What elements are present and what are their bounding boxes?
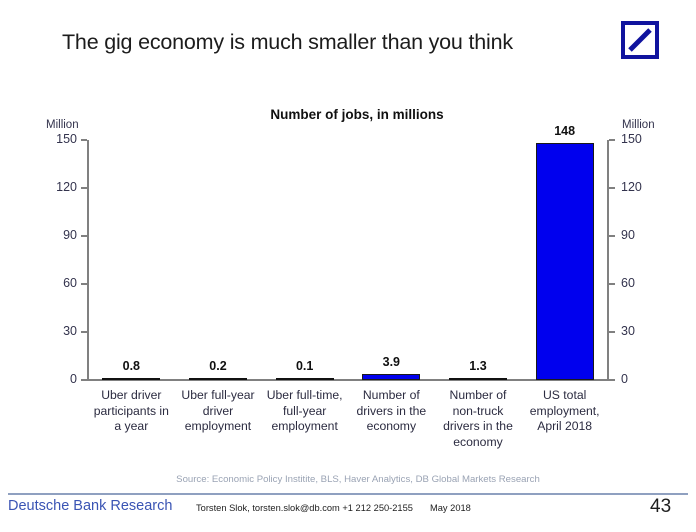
category-label-line: participants in xyxy=(82,404,181,420)
bar xyxy=(536,143,594,380)
bar xyxy=(102,378,160,381)
y-tick-label-right-30: 30 xyxy=(621,324,635,338)
bar xyxy=(362,374,420,380)
y-tick-right-30 xyxy=(609,331,615,333)
category-label-line: employment, xyxy=(515,404,614,420)
footer-date: May 2018 xyxy=(430,503,471,513)
y-tick-label-left-60: 60 xyxy=(63,276,77,290)
category-label: Number ofdrivers in theeconomy xyxy=(342,388,441,435)
y-tick-label-right-120: 120 xyxy=(621,180,642,194)
category-label-line: full-year xyxy=(255,404,354,420)
footer-contact: Torsten Slok, torsten.slok@db.com +1 212… xyxy=(196,503,413,513)
y-tick-label-right-60: 60 xyxy=(621,276,635,290)
y-tick-left-150 xyxy=(81,139,87,141)
bar-value-label: 0.1 xyxy=(261,359,348,373)
plot-area: 00303060609090120120150150 0.80.20.13.91… xyxy=(88,140,608,380)
category-label: Uber driverparticipants ina year xyxy=(82,388,181,435)
y-tick-label-right-0: 0 xyxy=(621,372,628,386)
y-axis-unit-right: Million xyxy=(622,119,655,131)
category-label-line: Uber driver xyxy=(82,388,181,404)
source-note: Source: Economic Policy Institite, BLS, … xyxy=(0,474,696,485)
y-tick-left-60 xyxy=(81,283,87,285)
chart-title: Number of jobs, in millions xyxy=(0,107,696,122)
bar xyxy=(449,378,507,381)
category-label-line: driver xyxy=(169,404,268,420)
bar-value-label: 1.3 xyxy=(435,359,522,373)
y-tick-right-120 xyxy=(609,187,615,189)
y-tick-label-left-30: 30 xyxy=(63,324,77,338)
category-label-line: US total xyxy=(515,388,614,404)
y-axis-left-line xyxy=(87,140,89,381)
y-tick-right-150 xyxy=(609,139,615,141)
y-tick-label-left-120: 120 xyxy=(56,180,77,194)
y-tick-label-left-0: 0 xyxy=(70,372,77,386)
y-axis-unit-left: Million xyxy=(46,119,79,131)
bar-value-label: 3.9 xyxy=(348,355,435,369)
y-axis-right-line xyxy=(607,140,609,381)
bar-value-label: 148 xyxy=(521,124,608,138)
footer-brand: Deutsche Bank Research xyxy=(8,498,172,514)
category-label-line: non-truck xyxy=(429,404,528,420)
y-tick-left-90 xyxy=(81,235,87,237)
category-label: US totalemployment,April 2018 xyxy=(515,388,614,435)
category-label: Number ofnon-truckdrivers in theeconomy xyxy=(429,388,528,450)
x-axis-baseline xyxy=(87,379,609,381)
y-tick-label-right-90: 90 xyxy=(621,228,635,242)
category-label: Uber full-time,full-yearemployment xyxy=(255,388,354,435)
category-label-line: Number of xyxy=(342,388,441,404)
page-title: The gig economy is much smaller than you… xyxy=(62,30,513,55)
category-label-line: drivers in the xyxy=(429,419,528,435)
category-label-line: employment xyxy=(169,419,268,435)
bar-value-label: 0.8 xyxy=(88,359,175,373)
y-tick-right-60 xyxy=(609,283,615,285)
db-slash-icon xyxy=(625,25,655,55)
bar-value-label: 0.2 xyxy=(175,359,262,373)
category-label-line: Uber full-year xyxy=(169,388,268,404)
category-label: Uber full-yeardriveremployment xyxy=(169,388,268,435)
category-label-line: economy xyxy=(342,419,441,435)
y-tick-right-0 xyxy=(609,379,615,381)
y-tick-left-120 xyxy=(81,187,87,189)
category-label-line: April 2018 xyxy=(515,419,614,435)
chart-container: Number of jobs, in millions Million Mill… xyxy=(0,104,696,474)
category-label-line: Number of xyxy=(429,388,528,404)
category-label-line: a year xyxy=(82,419,181,435)
y-tick-left-0 xyxy=(81,379,87,381)
deutsche-bank-logo xyxy=(621,21,659,59)
category-label-line: drivers in the xyxy=(342,404,441,420)
y-tick-right-90 xyxy=(609,235,615,237)
footer-divider xyxy=(8,493,688,495)
category-label-line: Uber full-time, xyxy=(255,388,354,404)
y-tick-label-right-150: 150 xyxy=(621,132,642,146)
bar xyxy=(189,378,247,381)
y-tick-label-left-150: 150 xyxy=(56,132,77,146)
y-tick-left-30 xyxy=(81,331,87,333)
category-label-line: employment xyxy=(255,419,354,435)
bar xyxy=(276,378,334,381)
footer-page-number: 43 xyxy=(650,496,671,518)
category-label-line: economy xyxy=(429,435,528,451)
y-tick-label-left-90: 90 xyxy=(63,228,77,242)
